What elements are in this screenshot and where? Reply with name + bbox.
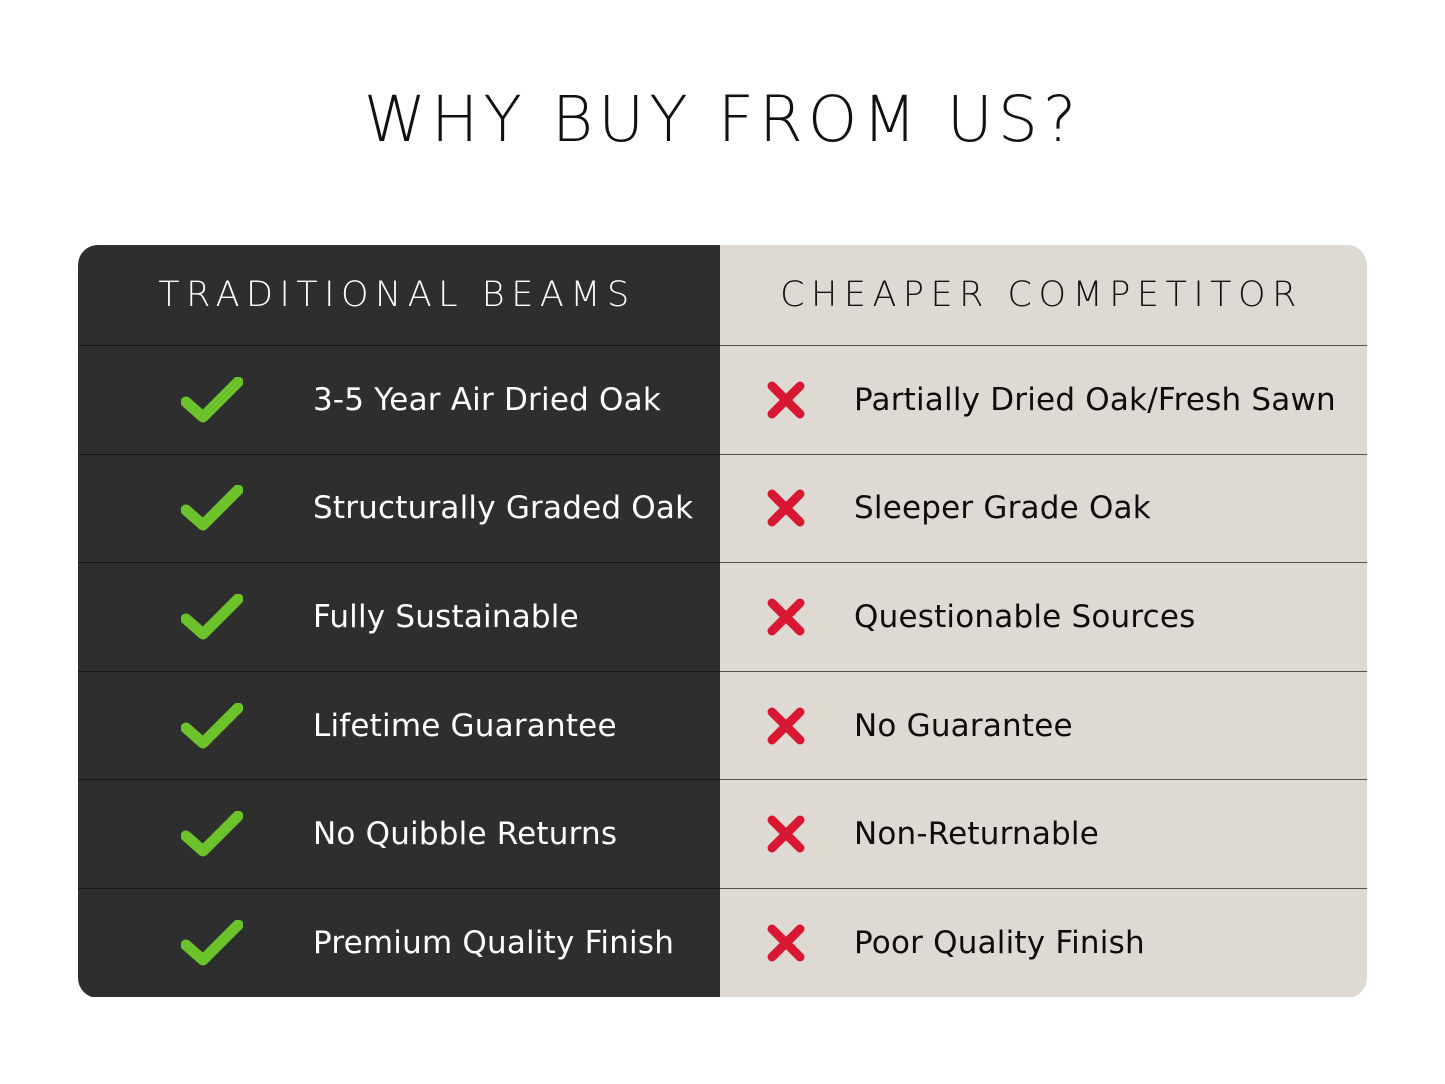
check-icon <box>177 377 247 423</box>
drawback-label: Sleeper Grade Oak <box>854 491 1151 525</box>
table-cell-competitor: Poor Quality Finish <box>720 888 1367 997</box>
table-row: Fully Sustainable Questionable Sources <box>78 562 1367 671</box>
table-row: Structurally Graded Oak Sleeper Grade Oa… <box>78 454 1367 563</box>
drawback-label: Questionable Sources <box>854 600 1196 634</box>
table-cell-competitor: Questionable Sources <box>720 562 1367 671</box>
cross-icon <box>760 706 812 746</box>
column-header-label: CHEAPER COMPETITOR <box>720 278 1367 313</box>
check-icon <box>177 703 247 749</box>
table-row: 3-5 Year Air Dried Oak Partially Dried O… <box>78 345 1367 454</box>
cross-icon <box>760 488 812 528</box>
feature-label: No Quibble Returns <box>313 817 617 851</box>
table-cell-traditional: 3-5 Year Air Dried Oak <box>78 345 720 454</box>
drawback-label: Non-Returnable <box>854 817 1099 851</box>
comparison-infographic: WHY BUY FROM US? TRADITIONAL BEAMS CHEAP… <box>0 0 1445 1084</box>
table-cell-competitor: No Guarantee <box>720 671 1367 780</box>
check-icon <box>177 811 247 857</box>
column-header-traditional-beams: TRADITIONAL BEAMS <box>78 245 720 345</box>
table-cell-traditional: No Quibble Returns <box>78 779 720 888</box>
table-cell-traditional: Lifetime Guarantee <box>78 671 720 780</box>
table-cell-competitor: Non-Returnable <box>720 779 1367 888</box>
table-row: Premium Quality Finish Poor Quality Fini… <box>78 888 1367 997</box>
comparison-table: TRADITIONAL BEAMS CHEAPER COMPETITOR 3-5… <box>78 245 1367 998</box>
check-icon <box>177 920 247 966</box>
feature-label: Structurally Graded Oak <box>313 491 693 525</box>
drawback-label: Partially Dried Oak/Fresh Sawn <box>854 383 1336 417</box>
table-cell-traditional: Fully Sustainable <box>78 562 720 671</box>
table-header-row: TRADITIONAL BEAMS CHEAPER COMPETITOR <box>78 245 1367 345</box>
table-cell-competitor: Sleeper Grade Oak <box>720 454 1367 563</box>
column-header-label: TRADITIONAL BEAMS <box>78 278 720 313</box>
table-cell-competitor: Partially Dried Oak/Fresh Sawn <box>720 345 1367 454</box>
table-cell-traditional: Premium Quality Finish <box>78 888 720 997</box>
check-icon <box>177 594 247 640</box>
feature-label: 3-5 Year Air Dried Oak <box>313 383 661 417</box>
cross-icon <box>760 380 812 420</box>
table-cell-traditional: Structurally Graded Oak <box>78 454 720 563</box>
drawback-label: No Guarantee <box>854 709 1073 743</box>
drawback-label: Poor Quality Finish <box>854 926 1145 960</box>
column-header-cheaper-competitor: CHEAPER COMPETITOR <box>720 245 1367 345</box>
check-icon <box>177 485 247 531</box>
page-title: WHY BUY FROM US? <box>0 88 1445 151</box>
table-row: No Quibble Returns Non-Returnable <box>78 779 1367 888</box>
feature-label: Lifetime Guarantee <box>313 709 617 743</box>
cross-icon <box>760 923 812 963</box>
table-row: Lifetime Guarantee No Guarantee <box>78 671 1367 780</box>
feature-label: Premium Quality Finish <box>313 926 674 960</box>
cross-icon <box>760 597 812 637</box>
cross-icon <box>760 814 812 854</box>
feature-label: Fully Sustainable <box>313 600 579 634</box>
